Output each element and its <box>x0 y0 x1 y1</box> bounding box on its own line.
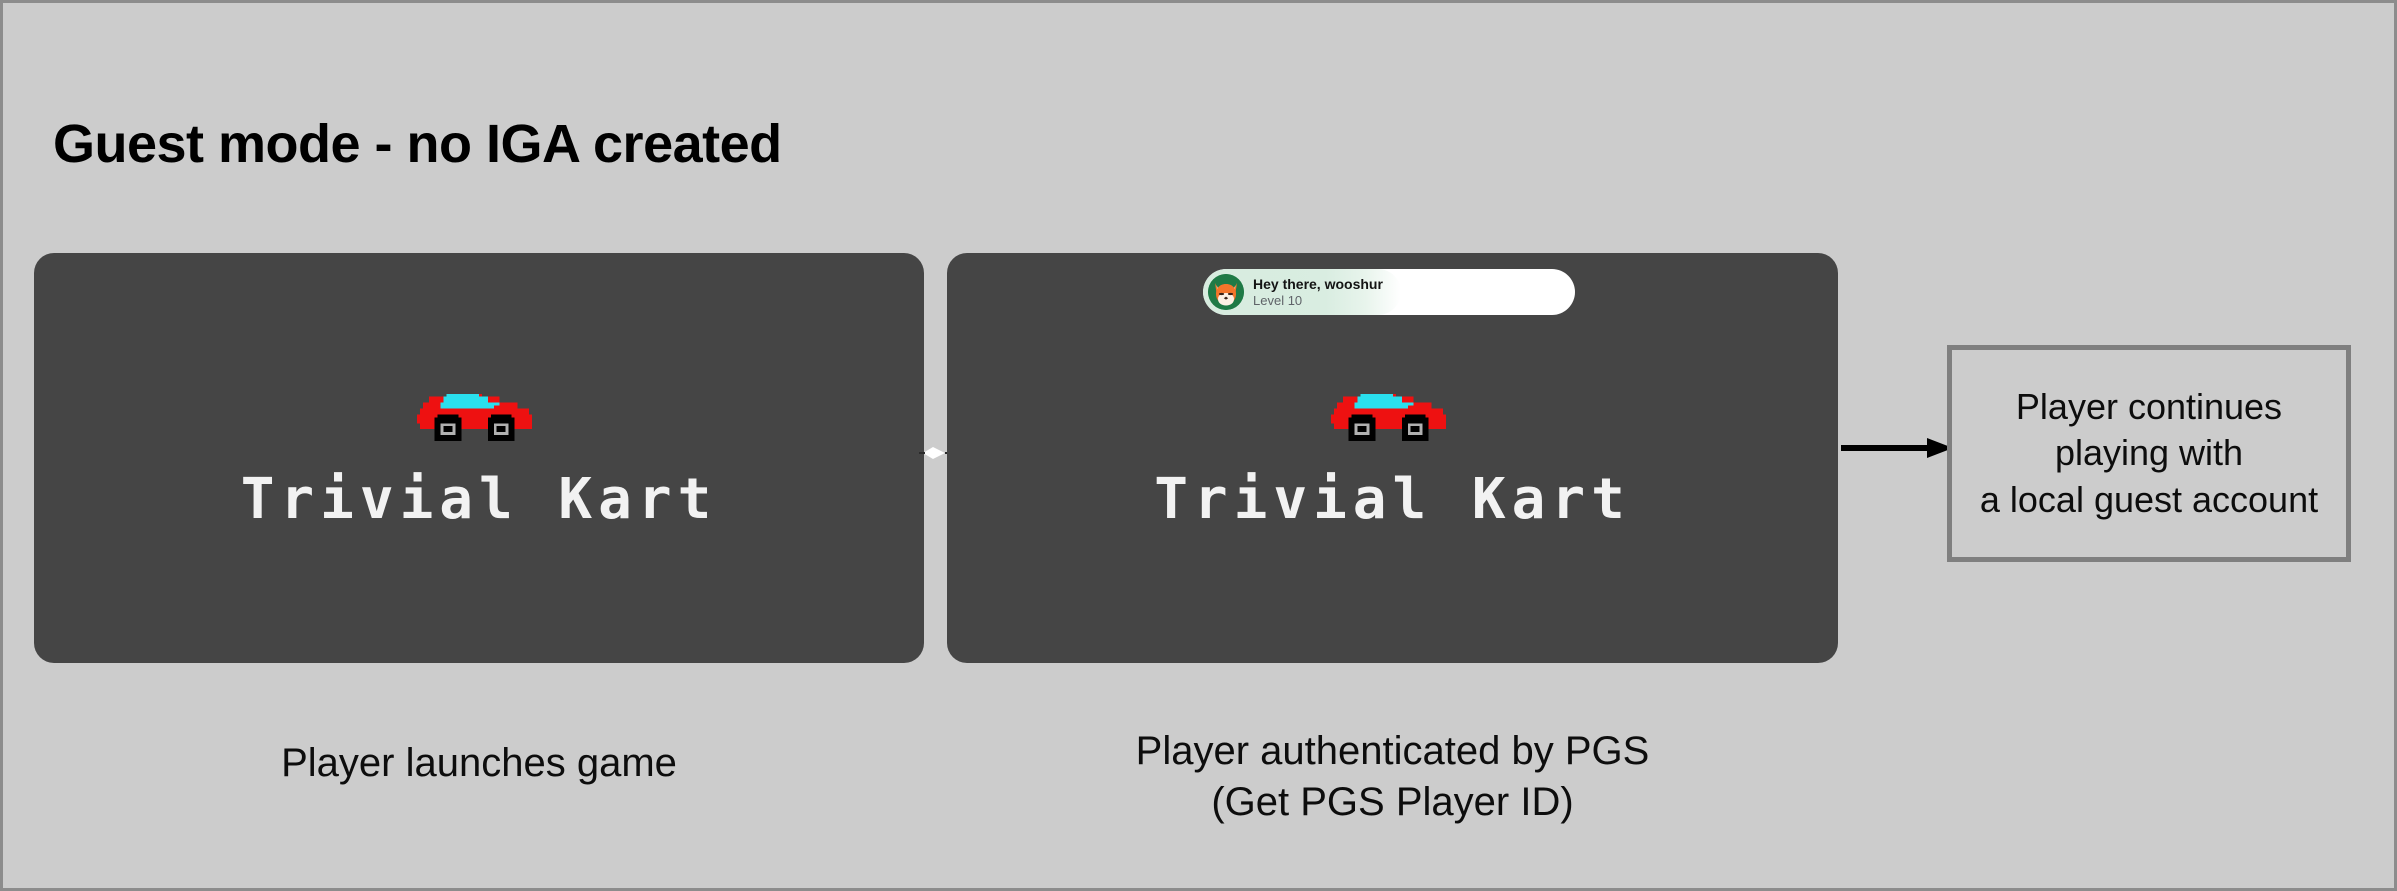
flow-arrow-icon <box>1841 435 1953 461</box>
game-title-logo: Trivial Kart <box>1154 467 1631 532</box>
pgs-signin-toast[interactable]: Hey there, wooshur Level 10 <box>1203 269 1575 315</box>
toast-level: Level 10 <box>1253 294 1383 308</box>
fox-avatar-icon <box>1208 274 1244 310</box>
toast-greeting: Hey there, wooshur <box>1253 277 1383 292</box>
game-branding-stack: Trivial Kart <box>34 379 924 532</box>
pixel-race-car-icon <box>410 379 548 441</box>
game-screenshot-panel-launch: Trivial Kart <box>34 253 924 663</box>
outcome-text: Player continues playing with a local gu… <box>1980 384 2318 522</box>
game-branding-stack: Trivial Kart <box>947 379 1838 532</box>
page-title: Guest mode - no IGA created <box>53 113 782 175</box>
diagram-canvas: Guest mode - no IGA created <box>0 0 2397 891</box>
toast-text-block: Hey there, wooshur Level 10 <box>1253 277 1383 307</box>
pixel-race-car-icon <box>1324 379 1462 441</box>
game-screenshot-panel-authenticated: Hey there, wooshur Level 10 <box>947 253 1838 663</box>
game-title-logo: Trivial Kart <box>241 467 718 532</box>
caption-player-launches-game: Player launches game <box>34 738 924 789</box>
outcome-box: Player continues playing with a local gu… <box>1947 345 2351 562</box>
caption-player-authenticated: Player authenticated by PGS (Get PGS Pla… <box>947 726 1838 828</box>
